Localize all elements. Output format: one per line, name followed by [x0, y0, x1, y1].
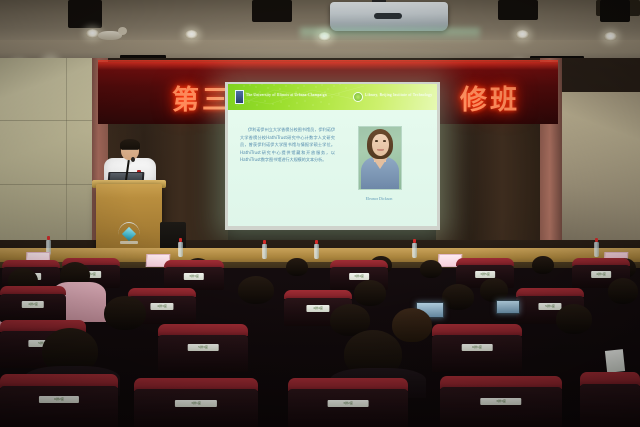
seat-number-tag: 3排5座 [475, 271, 495, 278]
audience-head [104, 296, 146, 330]
led-banner-glow [98, 60, 558, 70]
projector-lens [374, 13, 402, 19]
ceiling-speaker [600, 0, 630, 22]
ceiling-downlight [185, 30, 198, 39]
seat-number-tag: 6排1座 [462, 344, 493, 351]
smoke-detector [98, 31, 122, 40]
slide-header-right-text: Library, Beijing Institute of Technology [365, 93, 432, 97]
portrait-photo [358, 126, 402, 190]
water-bottle [594, 242, 599, 257]
audience-seat[interactable]: 5排3座 [158, 324, 248, 372]
beijing-institute-of-technology-emblem [118, 222, 140, 248]
seat-number-tag: 5排3座 [188, 344, 219, 351]
seat-number-tag: 4排2座 [22, 301, 44, 308]
audience-seat[interactable]: 6排1座 [432, 324, 522, 372]
audience-seat[interactable]: 3排1座 [134, 378, 258, 427]
water-bottle [178, 242, 183, 257]
emblem-text-bar [120, 241, 138, 244]
ceiling-downlight [86, 29, 99, 38]
portrait-eye [375, 140, 378, 142]
ceiling-panel [498, 0, 538, 20]
audience-head [480, 278, 508, 302]
audience-seat[interactable]: 4排2座 [0, 286, 66, 322]
led-banner-text-right: 修班 [460, 78, 520, 117]
seat-number-tag: 3排3座 [184, 273, 204, 280]
seat-number-tag: 5排1座 [538, 303, 561, 310]
water-bottle [412, 243, 417, 258]
seat-number-tag: 3排1座 [175, 400, 217, 407]
bit-library-logo-icon [353, 92, 363, 102]
audience-seat[interactable]: 3排3座 [440, 376, 562, 427]
uiuc-logo-icon [235, 90, 244, 104]
seat-number-tag: 4排4座 [306, 305, 329, 312]
seat-number-tag: 4排3座 [150, 303, 173, 310]
left-marble-wall [0, 58, 98, 253]
seat-number-tag: 4排1座 [591, 271, 611, 278]
seat-number-tag: 3排3座 [480, 398, 521, 405]
seat-number-tag: 3排4座 [349, 273, 369, 280]
audience-head [354, 280, 386, 306]
ceiling-projector [330, 2, 448, 31]
audience-seat[interactable]: 6排2座 [0, 374, 118, 427]
audience-laptop [496, 300, 520, 314]
audience-head [238, 276, 274, 304]
photo-scene: 第三 修班 [0, 0, 640, 427]
projector-beam [300, 28, 480, 42]
portrait-face [372, 134, 389, 156]
audience-head [608, 278, 638, 304]
ceiling-downlight [516, 30, 529, 39]
ceiling-panel [68, 0, 102, 28]
wood-wall-panel [436, 120, 546, 260]
slide-body-text: 伊利诺伊州立大学香槟分校图书馆员，伊利诺伊大学香槟分校HathiTrust研究中… [240, 126, 335, 164]
audience-head [420, 260, 442, 278]
audience-head [556, 304, 592, 334]
right-wall [560, 92, 640, 257]
audience-head [532, 256, 554, 274]
audience-seat[interactable]: 3排2座 [288, 378, 408, 427]
audience-seat[interactable]: 3排3座 [164, 260, 224, 290]
led-banner-text-left: 第三 [172, 78, 232, 117]
portrait-eye [383, 140, 386, 142]
audience-paper [605, 349, 625, 373]
portrait-caption: Eleanor Dickson [348, 196, 410, 201]
audience-seat[interactable] [580, 372, 640, 427]
audience-head [286, 258, 308, 276]
seat-number-tag: 6排2座 [39, 396, 79, 403]
microphone-icon [131, 157, 135, 162]
water-bottle [262, 244, 267, 259]
audience-head [442, 284, 474, 310]
portrait-mouth [377, 149, 384, 151]
presentation-slide: The University of Illinois at Urbana-Cha… [228, 84, 437, 226]
audience-head [392, 308, 432, 342]
ceiling-panel [252, 0, 292, 22]
water-bottle [314, 244, 319, 259]
seat-number-tag: 3排2座 [328, 400, 369, 407]
glasses-icon [123, 149, 138, 153]
ceiling-downlight [604, 32, 617, 41]
slide-header-left-text: The University of Illinois at Urbana-Cha… [246, 93, 327, 97]
slide-header-band: The University of Illinois at Urbana-Cha… [228, 84, 437, 110]
